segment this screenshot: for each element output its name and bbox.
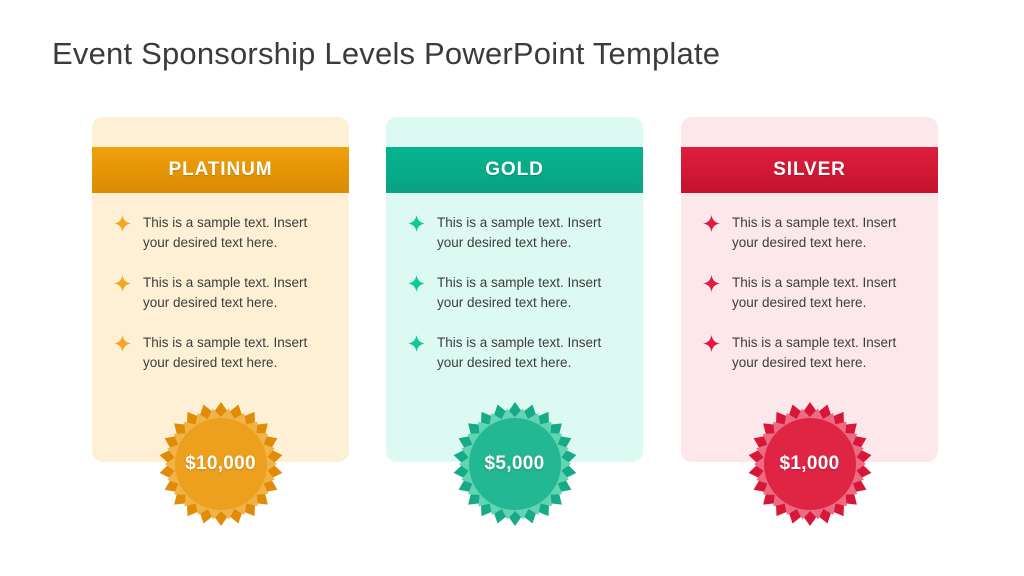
starburst-rosette-icon — [157, 400, 285, 528]
list-item: This is a sample text. Insert your desir… — [92, 273, 349, 312]
list-item-text: This is a sample text. Insert your desir… — [143, 333, 323, 372]
price-badge-silver[interactable]: $1,000 — [746, 400, 874, 528]
list-item: This is a sample text. Insert your desir… — [681, 213, 938, 252]
four-point-star-icon — [114, 275, 131, 292]
list-item-text: This is a sample text. Insert your desir… — [143, 273, 323, 312]
price-badge-gold[interactable]: $5,000 — [451, 400, 579, 528]
list-item: This is a sample text. Insert your desir… — [92, 213, 349, 252]
price-badge-platinum[interactable]: $10,000 — [157, 400, 285, 528]
sponsorship-card-gold[interactable]: GOLD This is a sample text. Insert your … — [386, 117, 643, 462]
list-item-text: This is a sample text. Insert your desir… — [437, 273, 617, 312]
bullet-list: This is a sample text. Insert your desir… — [92, 213, 349, 393]
list-item: This is a sample text. Insert your desir… — [386, 273, 643, 312]
card-header-silver: SILVER — [681, 147, 938, 193]
list-item: This is a sample text. Insert your desir… — [386, 213, 643, 252]
list-item-text: This is a sample text. Insert your desir… — [437, 333, 617, 372]
four-point-star-icon — [703, 275, 720, 292]
card-header-platinum: PLATINUM — [92, 147, 349, 193]
list-item: This is a sample text. Insert your desir… — [386, 333, 643, 372]
slide-canvas: Event Sponsorship Levels PowerPoint Temp… — [0, 0, 1024, 576]
list-item: This is a sample text. Insert your desir… — [92, 333, 349, 372]
list-item-text: This is a sample text. Insert your desir… — [732, 333, 912, 372]
sponsorship-cards-row: PLATINUM This is a sample text. Insert y… — [0, 117, 1024, 557]
four-point-star-icon — [114, 215, 131, 232]
four-point-star-icon — [408, 275, 425, 292]
four-point-star-icon — [114, 335, 131, 352]
list-item-text: This is a sample text. Insert your desir… — [437, 213, 617, 252]
four-point-star-icon — [408, 335, 425, 352]
four-point-star-icon — [703, 335, 720, 352]
four-point-star-icon — [408, 215, 425, 232]
starburst-rosette-icon — [451, 400, 579, 528]
bullet-list: This is a sample text. Insert your desir… — [681, 213, 938, 393]
list-item: This is a sample text. Insert your desir… — [681, 333, 938, 372]
card-header-label: GOLD — [485, 159, 544, 181]
starburst-rosette-icon — [746, 400, 874, 528]
card-header-label: SILVER — [773, 159, 846, 181]
list-item-text: This is a sample text. Insert your desir… — [143, 213, 323, 252]
list-item: This is a sample text. Insert your desir… — [681, 273, 938, 312]
card-header-label: PLATINUM — [169, 159, 273, 181]
bullet-list: This is a sample text. Insert your desir… — [386, 213, 643, 393]
sponsorship-card-silver[interactable]: SILVER This is a sample text. Insert you… — [681, 117, 938, 462]
list-item-text: This is a sample text. Insert your desir… — [732, 273, 912, 312]
sponsorship-card-platinum[interactable]: PLATINUM This is a sample text. Insert y… — [92, 117, 349, 462]
page-title: Event Sponsorship Levels PowerPoint Temp… — [52, 32, 952, 76]
card-header-gold: GOLD — [386, 147, 643, 193]
four-point-star-icon — [703, 215, 720, 232]
list-item-text: This is a sample text. Insert your desir… — [732, 213, 912, 252]
